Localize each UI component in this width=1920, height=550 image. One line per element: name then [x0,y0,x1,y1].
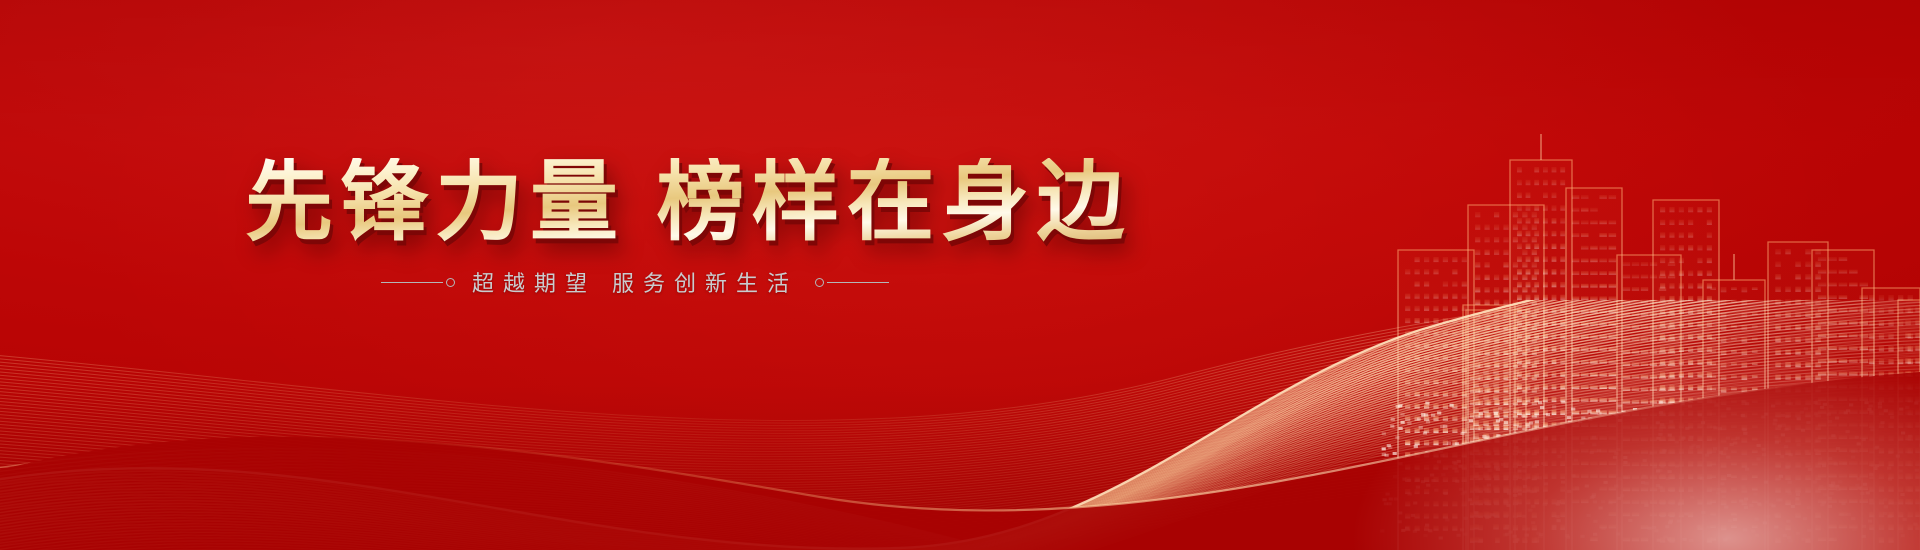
banner-root: 先锋力量 榜样在身边 先锋力量 榜样在身边 超越期望服务创新生活 [0,0,1920,550]
gold-wave-lines-layer [0,0,1920,550]
